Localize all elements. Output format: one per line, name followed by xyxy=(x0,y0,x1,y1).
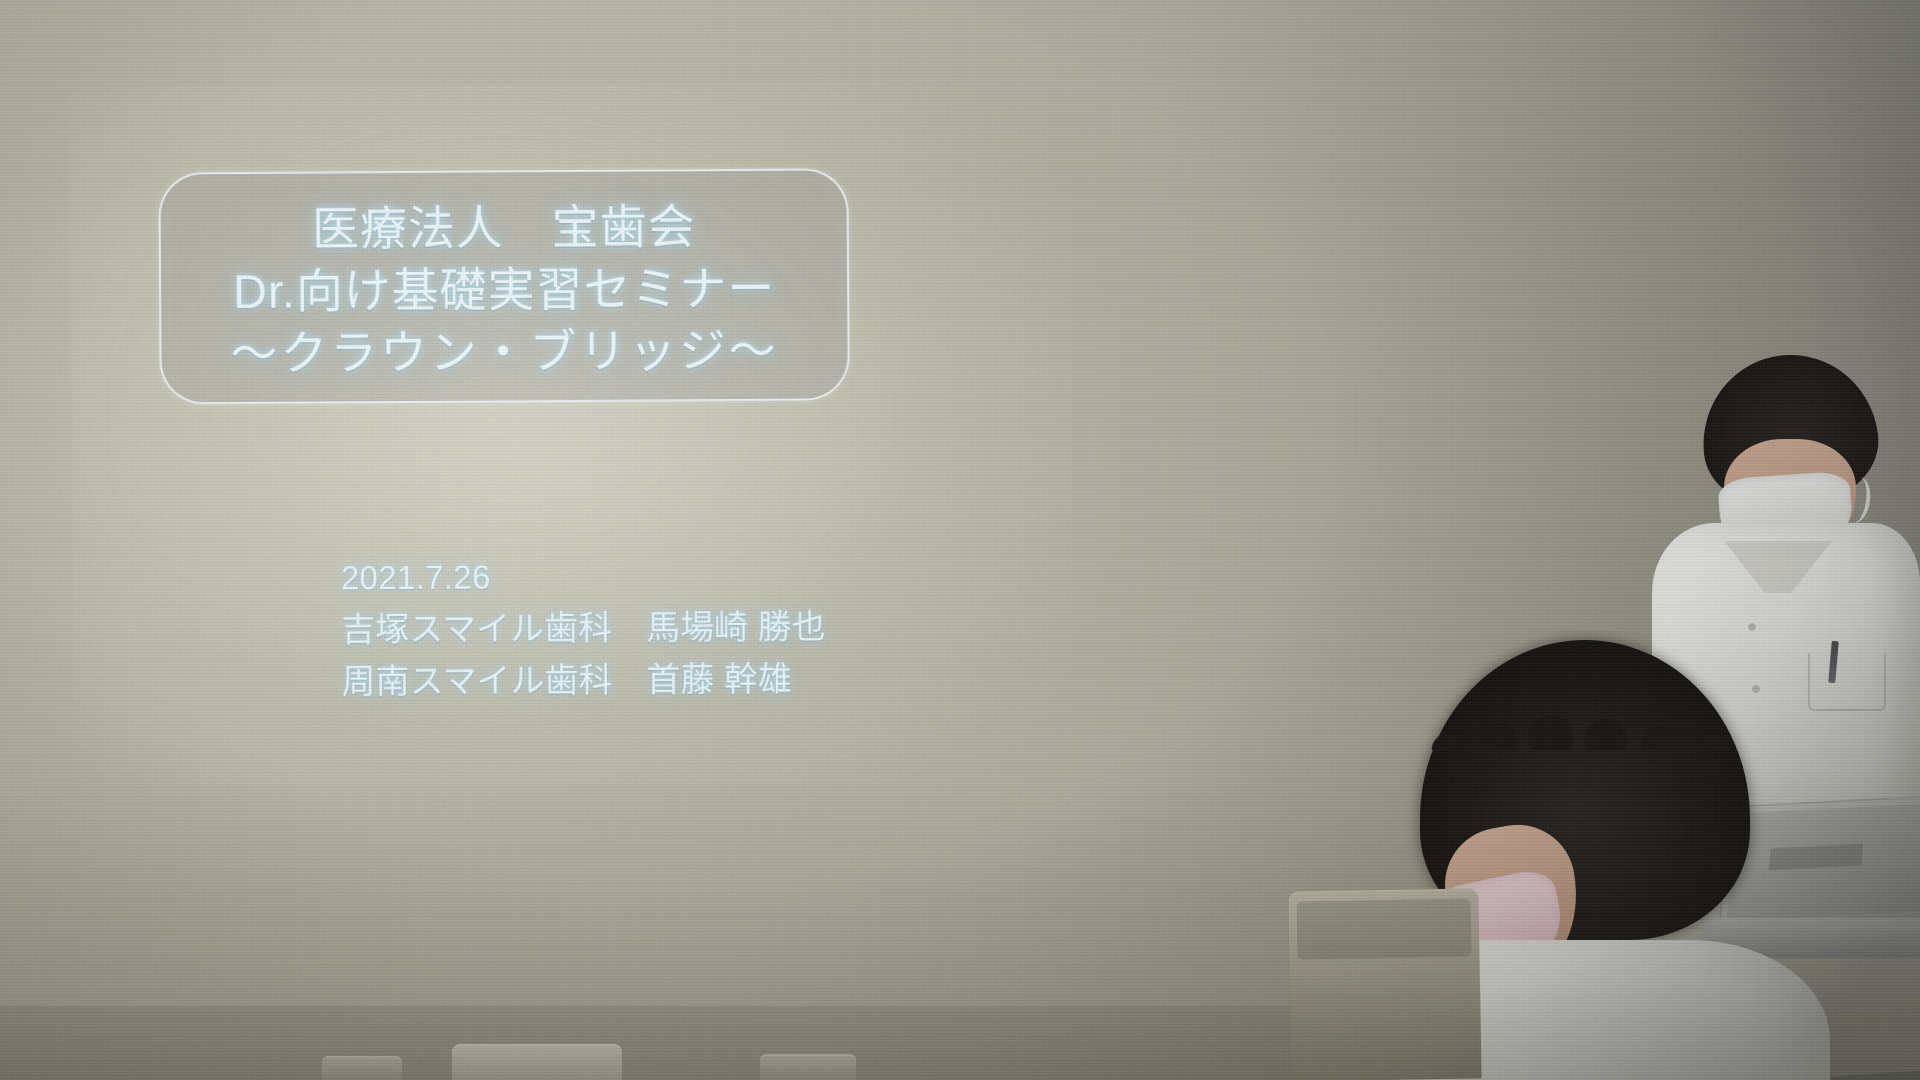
slide-presenter-2: 周南スマイル歯科 首藤 幹雄 xyxy=(341,656,826,707)
slide-title-line-3: 〜クラウン・ブリッジ〜 xyxy=(230,319,778,384)
projected-slide: 医療法人 宝歯会 Dr.向け基礎実習セミナー 〜クラウン・ブリッジ〜 2021.… xyxy=(70,81,1074,787)
slide-title-line-1: 医療法人 宝歯会 xyxy=(312,197,696,261)
chair-back xyxy=(1288,888,1481,1080)
seminar-room-photo: 医療法人 宝歯会 Dr.向け基礎実習セミナー 〜クラウン・ブリッジ〜 2021.… xyxy=(0,0,1920,1080)
table-item xyxy=(760,1054,856,1080)
slide-title-box: 医療法人 宝歯会 Dr.向け基礎実習セミナー 〜クラウン・ブリッジ〜 xyxy=(158,168,849,404)
slide-credits-block: 2021.7.26 吉塚スマイル歯科 馬場崎 勝也 周南スマイル歯科 首藤 幹雄 xyxy=(341,552,826,706)
slide-title-line-2: Dr.向け基礎実習セミナー xyxy=(233,258,776,322)
slide-presenter-1: 吉塚スマイル歯科 馬場崎 勝也 xyxy=(341,603,826,654)
mask-earloop xyxy=(1841,475,1873,524)
table-item xyxy=(322,1056,402,1080)
table-item xyxy=(452,1044,622,1080)
slide-date: 2021.7.26 xyxy=(341,552,826,602)
